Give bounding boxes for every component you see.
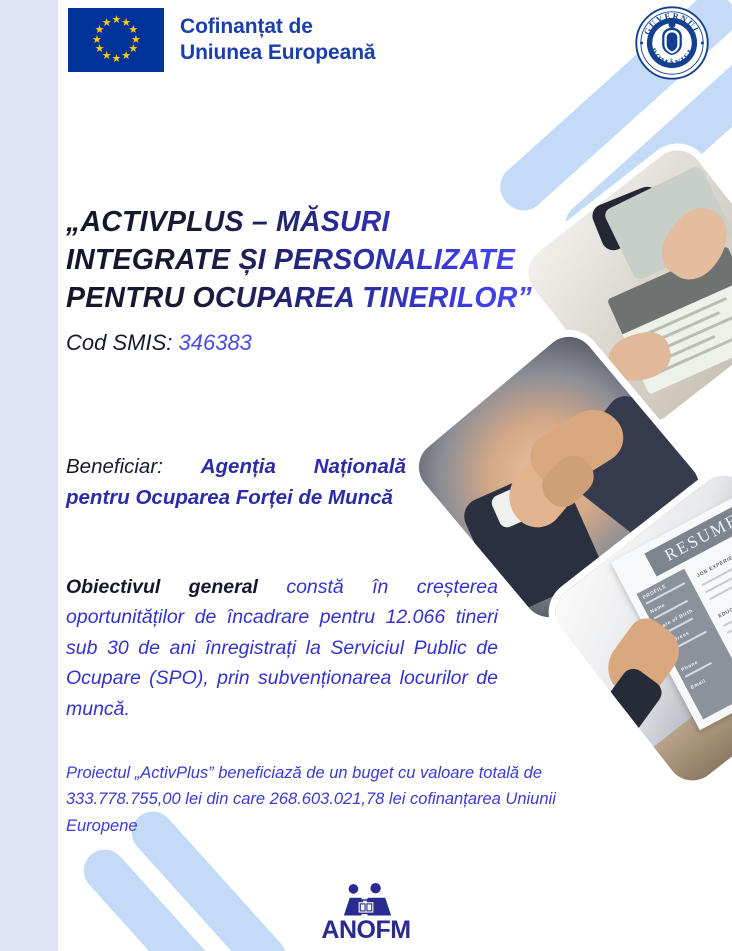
eu-star-icon: ★: [112, 55, 121, 64]
objective-block: Obiectivul general constă în creșterea o…: [66, 572, 498, 724]
budget-block: Proiectul „ActivPlus” beneficiază de un …: [66, 760, 611, 839]
eu-logo-text: Cofinanțat de Uniunea Europeană: [180, 14, 376, 65]
beneficiary-label: Beneficiar:: [66, 455, 163, 478]
eu-star-icon: ★: [92, 36, 101, 45]
eu-star-icon: ★: [121, 52, 130, 61]
resume-section-job-experience: JOB EXPERIENCE: [696, 549, 732, 579]
beneficiary-block: Beneficiar: Agenția Națională pentru Ocu…: [66, 451, 406, 513]
smis-value: 346383: [179, 330, 252, 355]
anofm-logo-icon: [329, 883, 403, 917]
eu-star-icon: ★: [112, 16, 121, 25]
romanian-government-seal-icon: GUVERNUL ROMÂNIEI: [634, 5, 710, 81]
page-title: „ACTIVPLUS – MĂSURI INTEGRATE ȘI PERSONA…: [66, 204, 556, 318]
poster-canvas: RESUME PROFILE Name Date of Birth Addres…: [0, 0, 732, 951]
resume-section-education: EDUCATION: [718, 598, 732, 620]
smis-label: Cod SMIS:: [66, 330, 172, 355]
anofm-logo-text: ANOFM: [321, 918, 410, 943]
eu-logo-line1: Cofinanțat de: [180, 14, 376, 40]
eu-cofinancing-logo: ★★★★★★★★★★★★ Cofinanțat de Uniunea Europ…: [68, 8, 376, 72]
eu-star-icon: ★: [95, 45, 104, 54]
eu-logo-line2: Uniunea Europeană: [180, 40, 376, 66]
poster-header: ★★★★★★★★★★★★ Cofinanțat de Uniunea Europ…: [0, 0, 732, 100]
objective-lead: Obiectivul general: [66, 576, 258, 598]
anofm-logo: ANOFM: [0, 883, 732, 943]
smis-code: Cod SMIS: 346383: [66, 330, 252, 356]
eu-flag-icon: ★★★★★★★★★★★★: [68, 8, 164, 72]
eu-star-icon: ★: [102, 19, 111, 28]
poster-content: „ACTIVPLUS – MĂSURI INTEGRATE ȘI PERSONA…: [66, 0, 626, 951]
